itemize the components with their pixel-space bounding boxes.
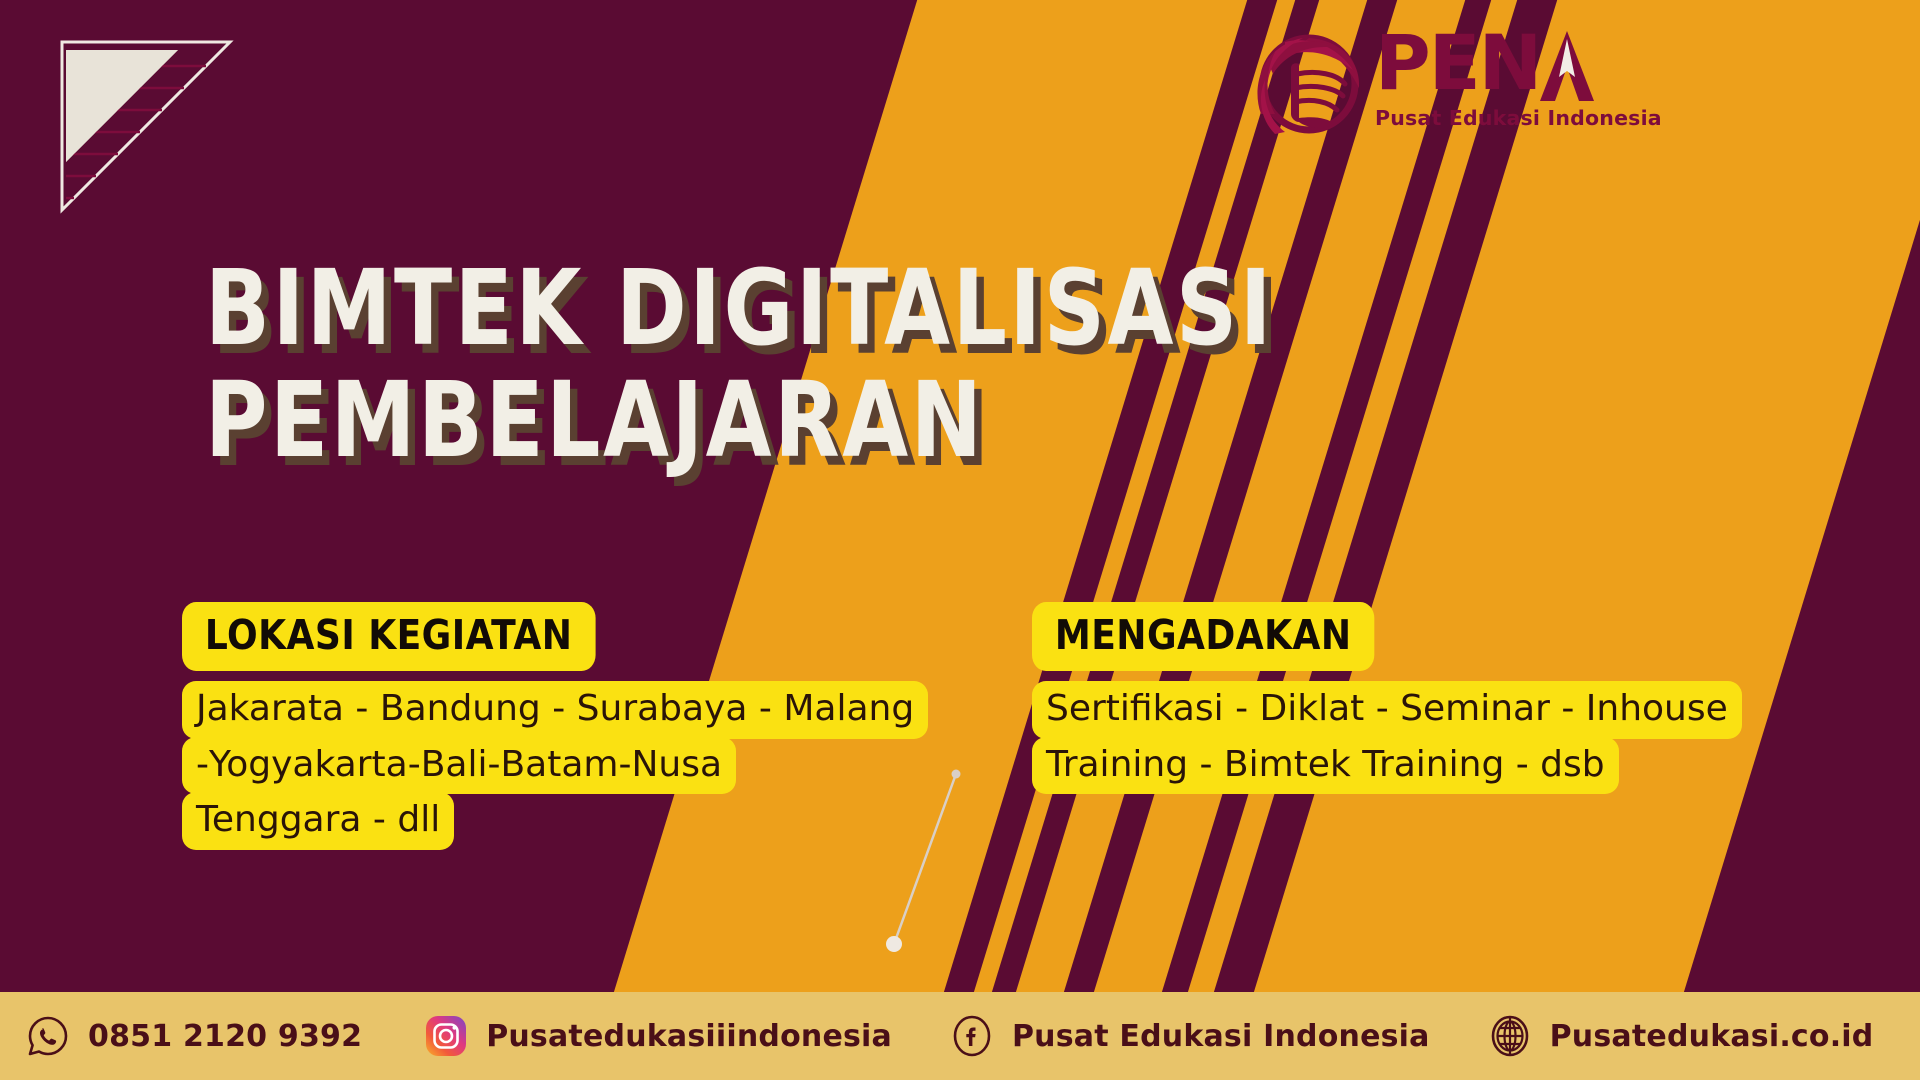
lokasi-word: Nusa	[631, 741, 722, 789]
promotional-banner: PEN Pusat Edukasi Indonesia BIMTEK DIGIT…	[0, 0, 1920, 1080]
lokasi-text-block: Jakarata - Bandung - Surabaya - Malang -…	[182, 681, 952, 850]
lokasi-word: Bali	[421, 741, 488, 789]
lokasi-word: Batam	[500, 741, 618, 789]
pena-feather-circle-emblem-icon	[1245, 18, 1373, 146]
headline: BIMTEK DIGITALISASI PEMBELAJARAN	[205, 252, 1505, 477]
facebook-icon	[950, 1014, 994, 1058]
footer-item-instagram[interactable]: Pusatedukasiiindonesia	[424, 1014, 892, 1058]
pena-wordmark-pen: PEN	[1375, 18, 1540, 107]
info-column-mengadakan: MENGADAKAN Sertifikasi - Diklat - Semina…	[1032, 602, 1772, 792]
triangle-outline-decoration	[56, 36, 236, 216]
footer-label-whatsapp: 0851 2120 9392	[88, 1019, 362, 1054]
footer-item-whatsapp[interactable]: 0851 2120 9392	[26, 1014, 362, 1058]
footer-contact-bar: 0851 2120 9392 Pusatedukasiiindonesia	[0, 992, 1920, 1080]
whatsapp-icon	[26, 1014, 70, 1058]
lokasi-line-3: Tenggara - dll	[182, 792, 454, 850]
info-column-lokasi: LOKASI KEGIATAN Jakarata - Bandung - Sur…	[182, 602, 952, 848]
footer-item-facebook[interactable]: Pusat Edukasi Indonesia	[950, 1014, 1430, 1058]
pena-logo-tagline: Pusat Edukasi Indonesia	[1375, 106, 1695, 130]
footer-label-facebook: Pusat Edukasi Indonesia	[1012, 1019, 1430, 1054]
footer-item-website[interactable]: Pusatedukasi.co.id	[1488, 1014, 1874, 1058]
pena-logo-text: PEN Pusat Edukasi Indonesia	[1375, 28, 1695, 130]
lokasi-word: Yogyakarta	[209, 741, 408, 789]
pointer-line-decoration	[880, 768, 970, 958]
mengadakan-text-block: Sertifikasi - Diklat - Seminar - Inhouse…	[1032, 681, 1772, 794]
footer-label-instagram: Pusatedukasiiindonesia	[486, 1019, 892, 1054]
lokasi-word: -	[618, 741, 631, 789]
mengadakan-line-2: Training - Bimtek Training - dsb	[1032, 737, 1619, 795]
lokasi-word: -	[408, 741, 421, 789]
lokasi-word: -	[196, 741, 209, 789]
pena-wordmark: PEN	[1375, 28, 1695, 104]
lokasi-pill-label: LOKASI KEGIATAN	[182, 602, 595, 671]
headline-line-2: PEMBELAJARAN	[205, 364, 1271, 476]
pena-nib-letter-a-icon	[1540, 31, 1594, 101]
headline-line-1: BIMTEK DIGITALISASI	[205, 252, 1271, 364]
pena-logo: PEN Pusat Edukasi Indonesia	[1245, 18, 1695, 146]
footer-label-website: Pusatedukasi.co.id	[1550, 1019, 1874, 1054]
lokasi-line-2: - Yogyakarta - Bali - Batam - Nusa	[182, 737, 736, 795]
lokasi-line-1: Jakarata - Bandung - Surabaya - Malang	[182, 681, 928, 739]
globe-icon	[1488, 1014, 1532, 1058]
lokasi-word: -	[487, 741, 500, 789]
mengadakan-pill-label: MENGADAKAN	[1032, 602, 1374, 671]
instagram-icon	[424, 1014, 468, 1058]
mengadakan-line-1: Sertifikasi - Diklat - Seminar - Inhouse	[1032, 681, 1742, 739]
